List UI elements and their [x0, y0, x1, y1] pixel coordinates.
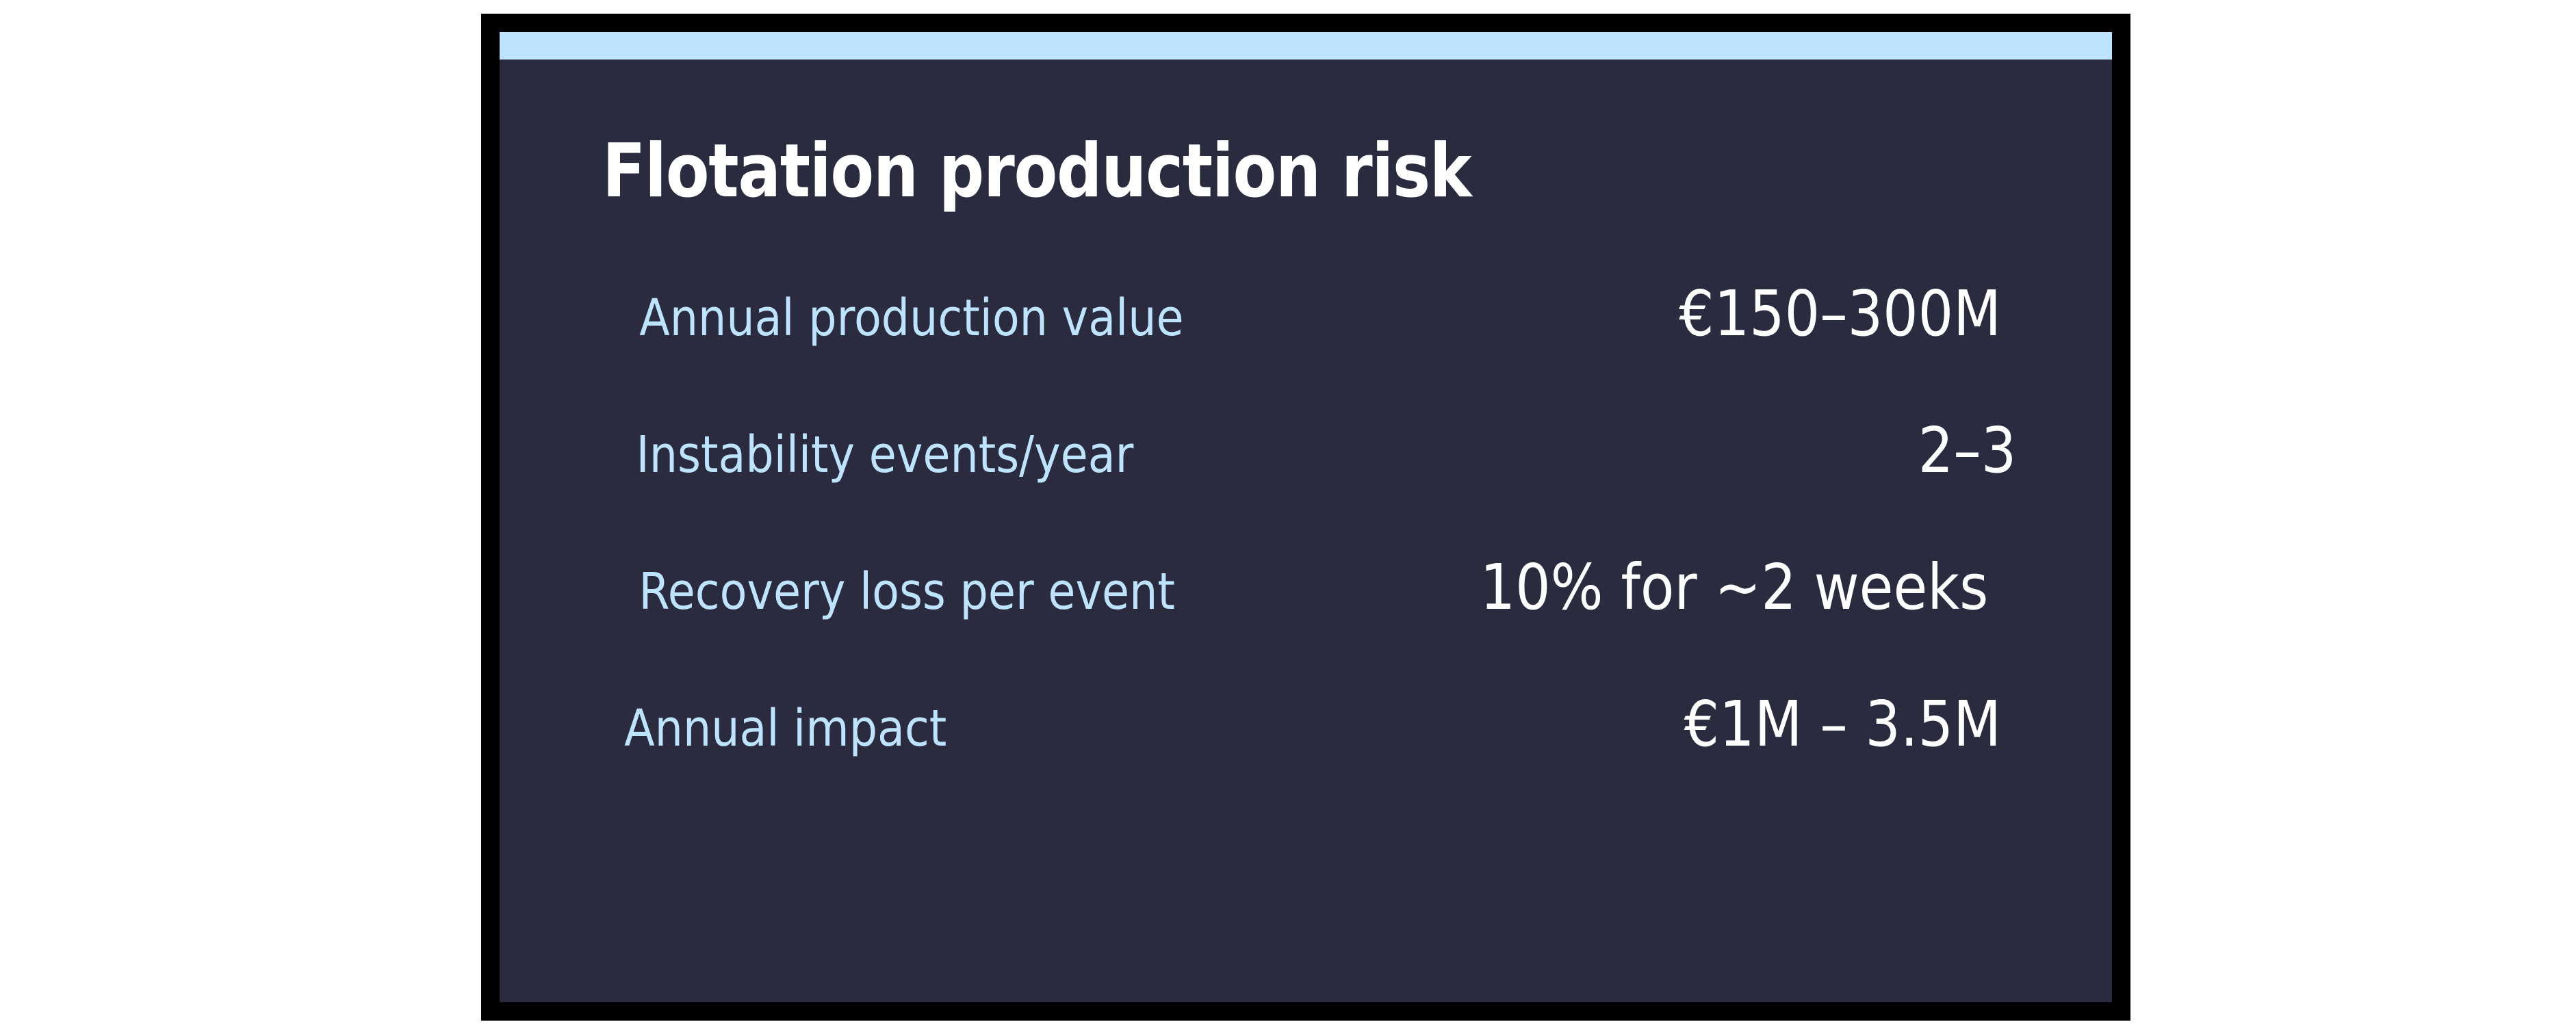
- card-body: Flotation production risk Annual product…: [500, 32, 2112, 1002]
- metrics-list: Annual production value €150–300M Instab…: [602, 283, 2023, 830]
- metric-row: Instability events/year 2–3: [602, 419, 2023, 556]
- metric-label: Instability events/year: [636, 430, 1134, 480]
- metric-value: 10% for ~2 weeks: [1480, 556, 1989, 619]
- card-content: Flotation production risk Annual product…: [602, 60, 2023, 1002]
- page-canvas: Flotation production risk Annual product…: [0, 0, 2576, 1035]
- risk-summary-card: Flotation production risk Annual product…: [481, 14, 2130, 1021]
- metric-value: €150–300M: [1679, 283, 2001, 345]
- metric-row: Recovery loss per event 10% for ~2 weeks: [602, 556, 2023, 693]
- metric-label: Recovery loss per event: [639, 566, 1174, 617]
- page-title: Flotation production risk: [602, 135, 1824, 209]
- card-accent-bar: [500, 32, 2112, 60]
- metric-label: Annual impact: [624, 703, 946, 754]
- metric-value: €1M – 3.5M: [1684, 693, 2001, 756]
- metric-row: Annual impact €1M – 3.5M: [602, 693, 2023, 830]
- metric-label: Annual production value: [639, 293, 1183, 343]
- metric-row: Annual production value €150–300M: [602, 283, 2023, 419]
- metric-value: 2–3: [1918, 419, 2017, 482]
